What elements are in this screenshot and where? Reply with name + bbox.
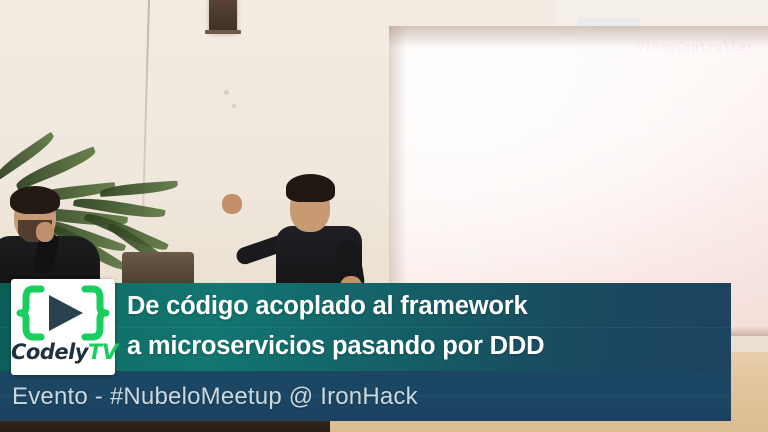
talk-title-line-1: De código acoplado al framework	[127, 286, 723, 326]
brace-open-icon	[20, 289, 41, 337]
event-subtitle: Evento - #NubeloMeetup @ IronHack	[12, 383, 418, 411]
ceiling-speaker-bracket	[205, 30, 241, 34]
talk-title: De código acoplado al framework a micros…	[127, 286, 723, 366]
ceiling-speaker	[209, 0, 237, 32]
lower-third-banner: CodelyTV De código acoplado al framework…	[0, 283, 731, 421]
wall-mark	[232, 104, 236, 108]
logo-word-codely: Codely	[11, 340, 88, 364]
logo-wordmark: CodelyTV	[11, 339, 115, 365]
logo-word-tv: TV	[88, 340, 118, 364]
slide-code-block: final class VideoController extends Cont…	[407, 74, 760, 273]
talk-title-line-2: a microservicios pasando por DDD	[127, 326, 723, 366]
codelytv-logo: CodelyTV	[11, 279, 115, 375]
screen-top-shadow	[389, 26, 768, 48]
wall-mark	[224, 90, 229, 95]
play-triangle-icon	[49, 295, 83, 331]
video-frame: VideoController final class VideoControl…	[0, 0, 768, 432]
logo-mark-group	[11, 283, 115, 343]
brace-close-icon	[85, 289, 106, 337]
